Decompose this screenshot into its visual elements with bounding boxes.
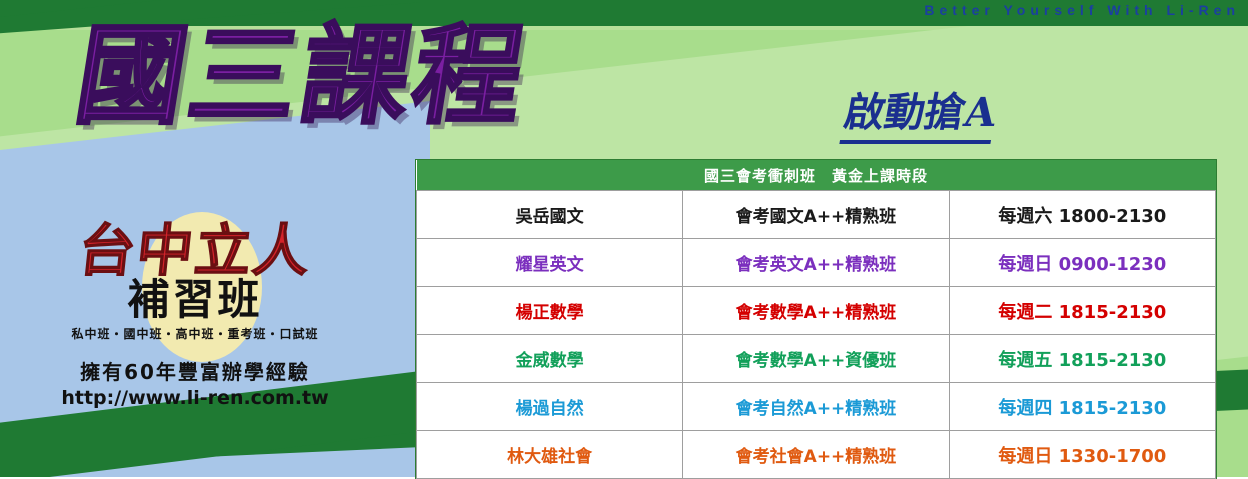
cell-time: 每週二 1815-2130	[949, 287, 1215, 335]
table-header-row: 國三會考衝刺班 黃金上課時段	[417, 160, 1216, 191]
logo-name-primary: 台中立人	[27, 222, 363, 281]
table-row: 吳岳國文會考國文A++精熟班每週六 1800-2130	[417, 191, 1216, 239]
cell-teacher: 楊過自然	[417, 383, 683, 431]
table-header-title: 國三會考衝刺班 黃金上課時段	[417, 160, 1216, 191]
cell-course: 會考英文A++精熟班	[683, 239, 949, 287]
cell-course: 會考社會A++精熟班	[683, 431, 949, 479]
table-row: 楊正數學會考數學A++精熟班每週二 1815-2130	[417, 287, 1216, 335]
schedule-table: 國三會考衝刺班 黃金上課時段 吳岳國文會考國文A++精熟班每週六 1800-21…	[416, 160, 1216, 479]
brand-logo: 台中立人 補習班 私中班・國中班・高中班・重考班・口試班 擁有60年豐富辦學經驗…	[30, 222, 360, 409]
table-row: 耀星英文會考英文A++精熟班每週日 0900-1230	[417, 239, 1216, 287]
table-row: 楊過自然會考自然A++精熟班每週四 1815-2130	[417, 383, 1216, 431]
cell-teacher: 金威數學	[417, 335, 683, 383]
tagline: Better Yourself With Li-Ren	[924, 2, 1240, 18]
schedule-table-container: 國三會考衝刺班 黃金上課時段 吳岳國文會考國文A++精熟班每週六 1800-21…	[416, 160, 1216, 479]
table-body: 吳岳國文會考國文A++精熟班每週六 1800-2130耀星英文會考英文A++精熟…	[417, 191, 1216, 479]
cell-teacher: 林大雄社會	[417, 431, 683, 479]
logo-class-types: 私中班・國中班・高中班・重考班・口試班	[30, 325, 360, 342]
table-row: 林大雄社會會考社會A++精熟班每週日 1330-1700	[417, 431, 1216, 479]
cell-course: 會考國文A++精熟班	[683, 191, 949, 239]
logo-website-url[interactable]: http://www.li-ren.com.tw	[30, 387, 360, 409]
logo-experience-text: 擁有60年豐富辦學經驗	[30, 356, 360, 385]
cell-time: 每週日 1330-1700	[949, 431, 1215, 479]
cell-course: 會考數學A++資優班	[683, 335, 949, 383]
table-row: 金威數學會考數學A++資優班每週五 1815-2130	[417, 335, 1216, 383]
cell-teacher: 楊正數學	[417, 287, 683, 335]
cell-time: 每週日 0900-1230	[949, 239, 1215, 287]
cell-time: 每週五 1815-2130	[949, 335, 1215, 383]
cell-teacher: 耀星英文	[417, 239, 683, 287]
cell-time: 每週四 1815-2130	[949, 383, 1215, 431]
cell-teacher: 吳岳國文	[417, 191, 683, 239]
cell-course: 會考自然A++精熟班	[683, 383, 949, 431]
page-subtitle: 啟動搶A	[839, 80, 1001, 144]
cell-time: 每週六 1800-2130	[949, 191, 1215, 239]
cell-course: 會考數學A++精熟班	[683, 287, 949, 335]
page-title: 國三課程	[69, 22, 534, 130]
